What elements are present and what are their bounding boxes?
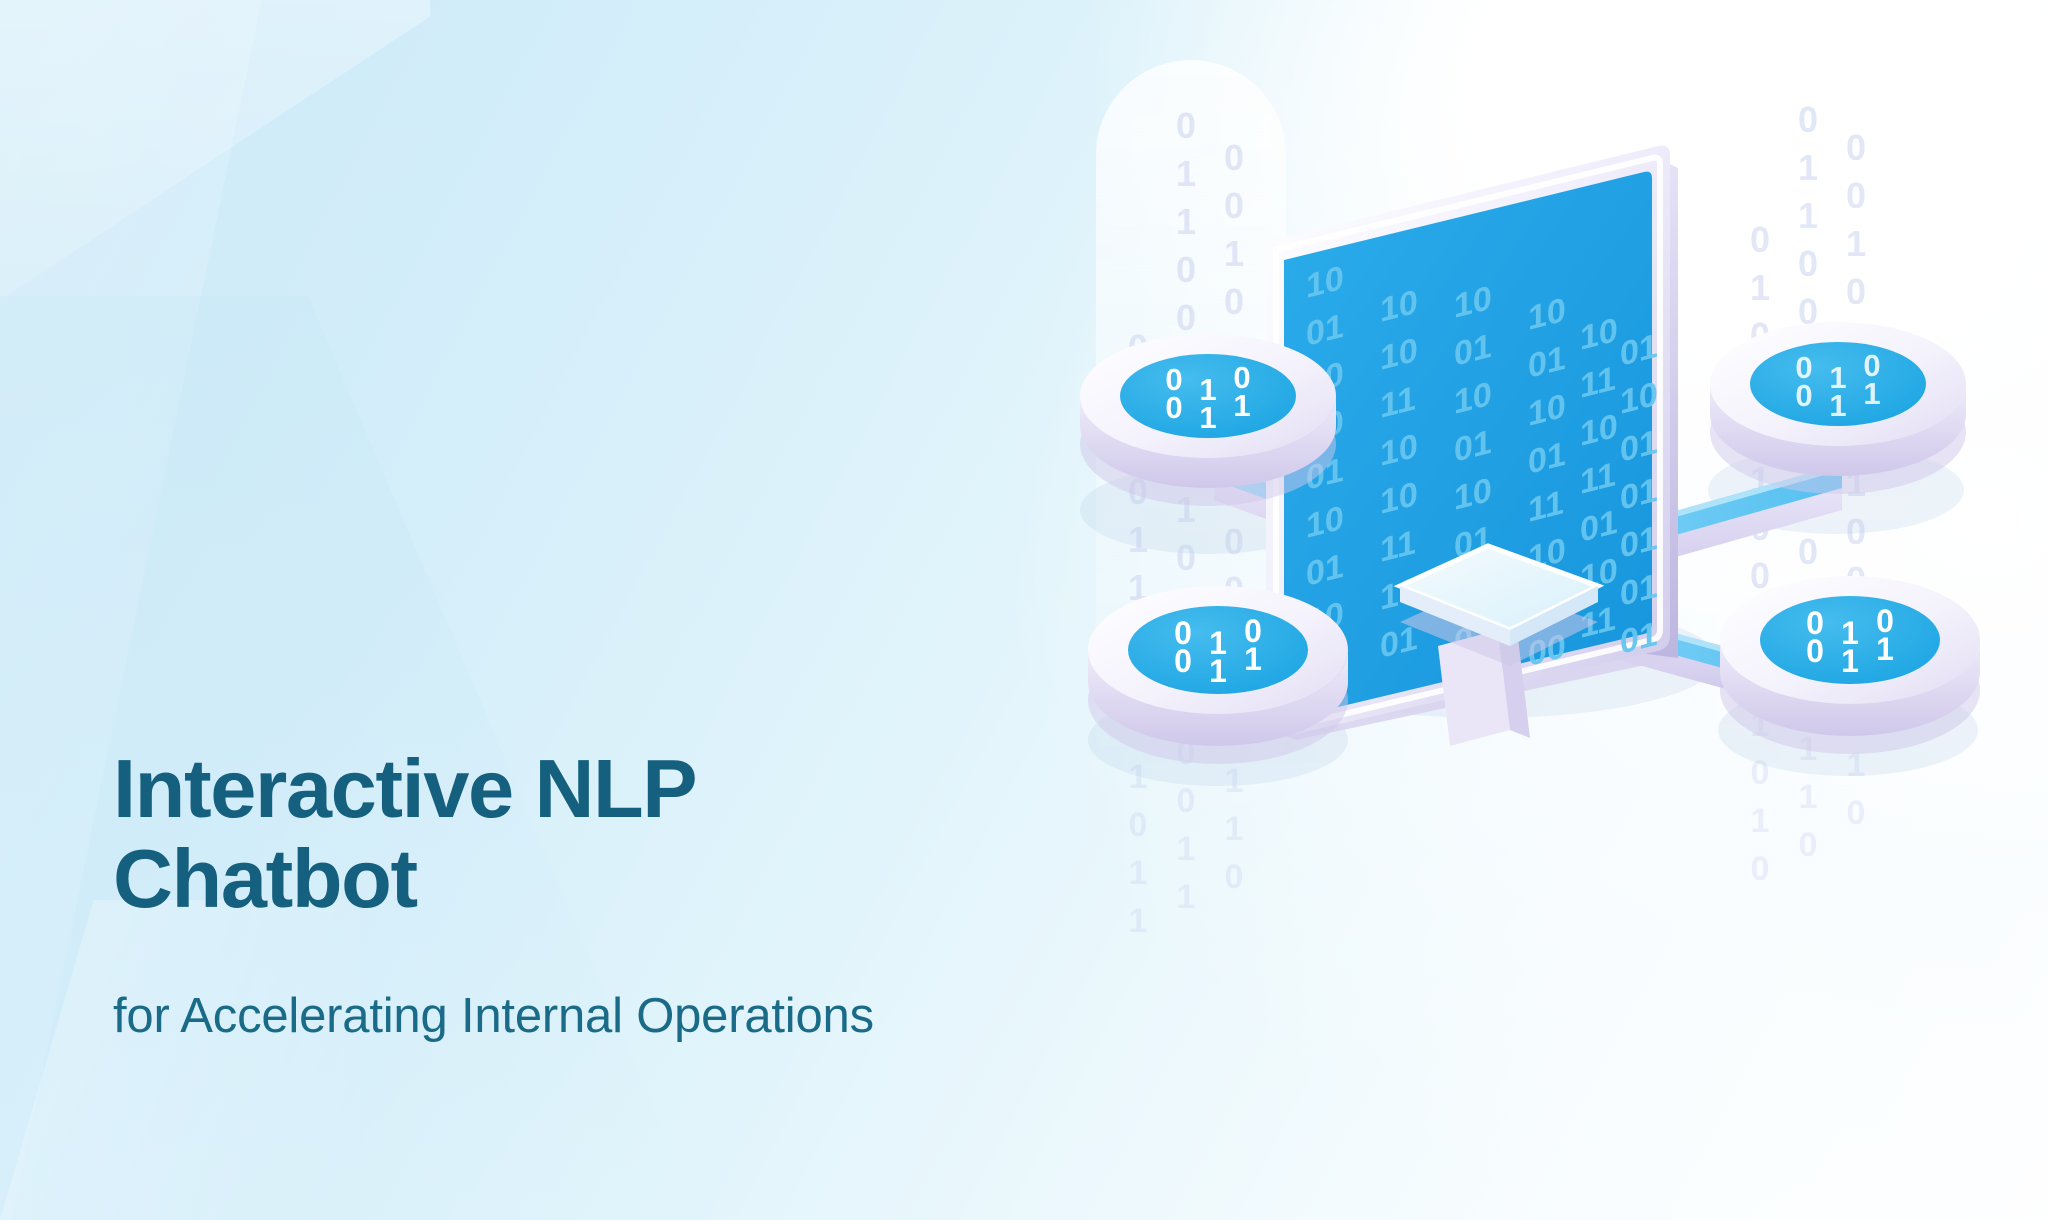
svg-text:0: 0	[1847, 794, 1866, 832]
svg-text:1: 1	[1798, 195, 1818, 236]
svg-text:0: 0	[1846, 127, 1866, 168]
page-title: Interactive NLP Chatbot	[113, 744, 1113, 925]
svg-text:1: 1	[1799, 778, 1818, 816]
svg-text:1: 1	[1233, 388, 1250, 423]
svg-text:1: 1	[1177, 830, 1196, 868]
svg-text:0: 0	[1177, 782, 1196, 820]
node-top-right: 010 011	[1710, 322, 1966, 494]
svg-text:0: 0	[1224, 281, 1244, 322]
svg-text:0: 0	[1165, 390, 1182, 425]
svg-text:0: 0	[1751, 850, 1770, 888]
svg-text:0: 0	[1798, 243, 1818, 284]
svg-text:0: 0	[1176, 297, 1196, 338]
svg-text:1: 1	[1129, 854, 1148, 892]
hero-text-block: Interactive NLP Chatbot for Accelerating…	[113, 744, 1113, 1046]
svg-text:1: 1	[1846, 223, 1866, 264]
svg-text:0: 0	[1129, 806, 1148, 844]
node-top-left: 010 011	[1080, 334, 1336, 506]
svg-text:0: 0	[1176, 249, 1196, 290]
svg-text:0: 0	[1799, 826, 1818, 864]
svg-text:1: 1	[1176, 201, 1196, 242]
svg-text:0: 0	[1846, 175, 1866, 216]
page-subtitle: for Accelerating Internal Operations	[113, 987, 1113, 1046]
svg-text:1: 1	[1225, 810, 1244, 848]
svg-text:1: 1	[1829, 388, 1846, 423]
svg-text:1: 1	[1863, 376, 1880, 411]
svg-text:0: 0	[1750, 555, 1770, 596]
svg-text:1: 1	[1841, 643, 1859, 679]
svg-text:1: 1	[1244, 641, 1262, 677]
node-bottom-left: 010 011	[1088, 586, 1348, 764]
svg-text:0: 0	[1798, 99, 1818, 140]
svg-text:1: 1	[1129, 902, 1148, 940]
svg-text:0: 0	[1224, 185, 1244, 226]
svg-text:1: 1	[1209, 653, 1227, 689]
svg-text:0: 0	[1795, 378, 1812, 413]
isometric-binary-network-illustration: 001 011 00 011 001 011 001 001 011 010 0…	[1018, 40, 2028, 940]
svg-text:1: 1	[1224, 233, 1244, 274]
svg-text:0: 0	[1750, 219, 1770, 260]
svg-text:1: 1	[1199, 400, 1216, 435]
svg-text:0: 0	[1806, 633, 1824, 669]
node-bottom-right: 010 011	[1720, 576, 1980, 754]
svg-text:0: 0	[1225, 858, 1244, 896]
svg-text:0: 0	[1798, 531, 1818, 572]
svg-text:1: 1	[1751, 802, 1770, 840]
svg-text:1: 1	[1798, 147, 1818, 188]
svg-text:1: 1	[1176, 153, 1196, 194]
svg-text:1: 1	[1750, 267, 1770, 308]
svg-text:1: 1	[1876, 631, 1894, 667]
svg-text:0: 0	[1176, 105, 1196, 146]
svg-text:0: 0	[1174, 643, 1192, 679]
svg-text:0: 0	[1846, 271, 1866, 312]
svg-text:0: 0	[1224, 137, 1244, 178]
svg-text:1: 1	[1177, 878, 1196, 916]
